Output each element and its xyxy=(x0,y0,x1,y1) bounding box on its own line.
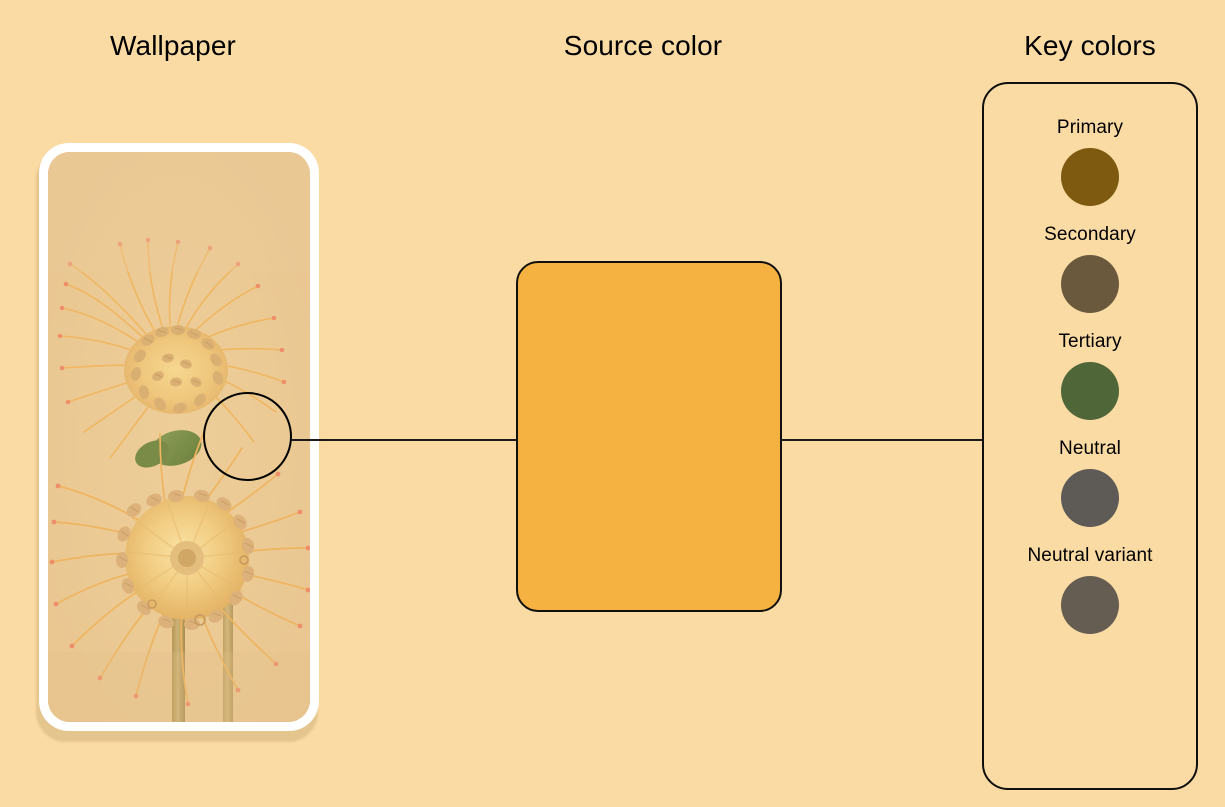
wallpaper-column-title: Wallpaper xyxy=(110,30,236,62)
key-color-item-tertiary[interactable]: Tertiary xyxy=(984,331,1196,420)
key-color-label: Neutral xyxy=(1059,438,1121,460)
key-color-item-secondary[interactable]: Secondary xyxy=(984,224,1196,313)
key-colors-column-title: Key colors xyxy=(1024,30,1156,62)
key-color-item-neutral[interactable]: Neutral xyxy=(984,438,1196,527)
connector-line-source-to-key-colors xyxy=(780,439,984,441)
key-color-swatch-primary[interactable] xyxy=(1061,148,1119,206)
wallpaper-source-pixel-highlight-circle xyxy=(203,392,292,481)
key-colors-list: Primary Secondary Tertiary Neutral Neutr… xyxy=(984,84,1196,788)
source-color-swatch[interactable] xyxy=(516,261,782,612)
key-color-swatch-neutral[interactable] xyxy=(1061,469,1119,527)
key-color-label: Primary xyxy=(1057,117,1123,139)
key-color-label: Tertiary xyxy=(1058,331,1121,353)
diagram-canvas: Wallpaper Source color Key colors xyxy=(0,0,1225,807)
key-color-label: Neutral variant xyxy=(1027,545,1152,567)
key-color-item-primary[interactable]: Primary xyxy=(984,117,1196,206)
key-color-item-neutral-variant[interactable]: Neutral variant xyxy=(984,545,1196,634)
key-color-swatch-neutral-variant[interactable] xyxy=(1061,576,1119,634)
key-colors-panel: Primary Secondary Tertiary Neutral Neutr… xyxy=(982,82,1198,790)
key-color-label: Secondary xyxy=(1044,224,1136,246)
connector-line-wallpaper-to-source xyxy=(291,439,518,441)
source-color-column-title: Source color xyxy=(564,30,722,62)
key-color-swatch-tertiary[interactable] xyxy=(1061,362,1119,420)
key-color-swatch-secondary[interactable] xyxy=(1061,255,1119,313)
